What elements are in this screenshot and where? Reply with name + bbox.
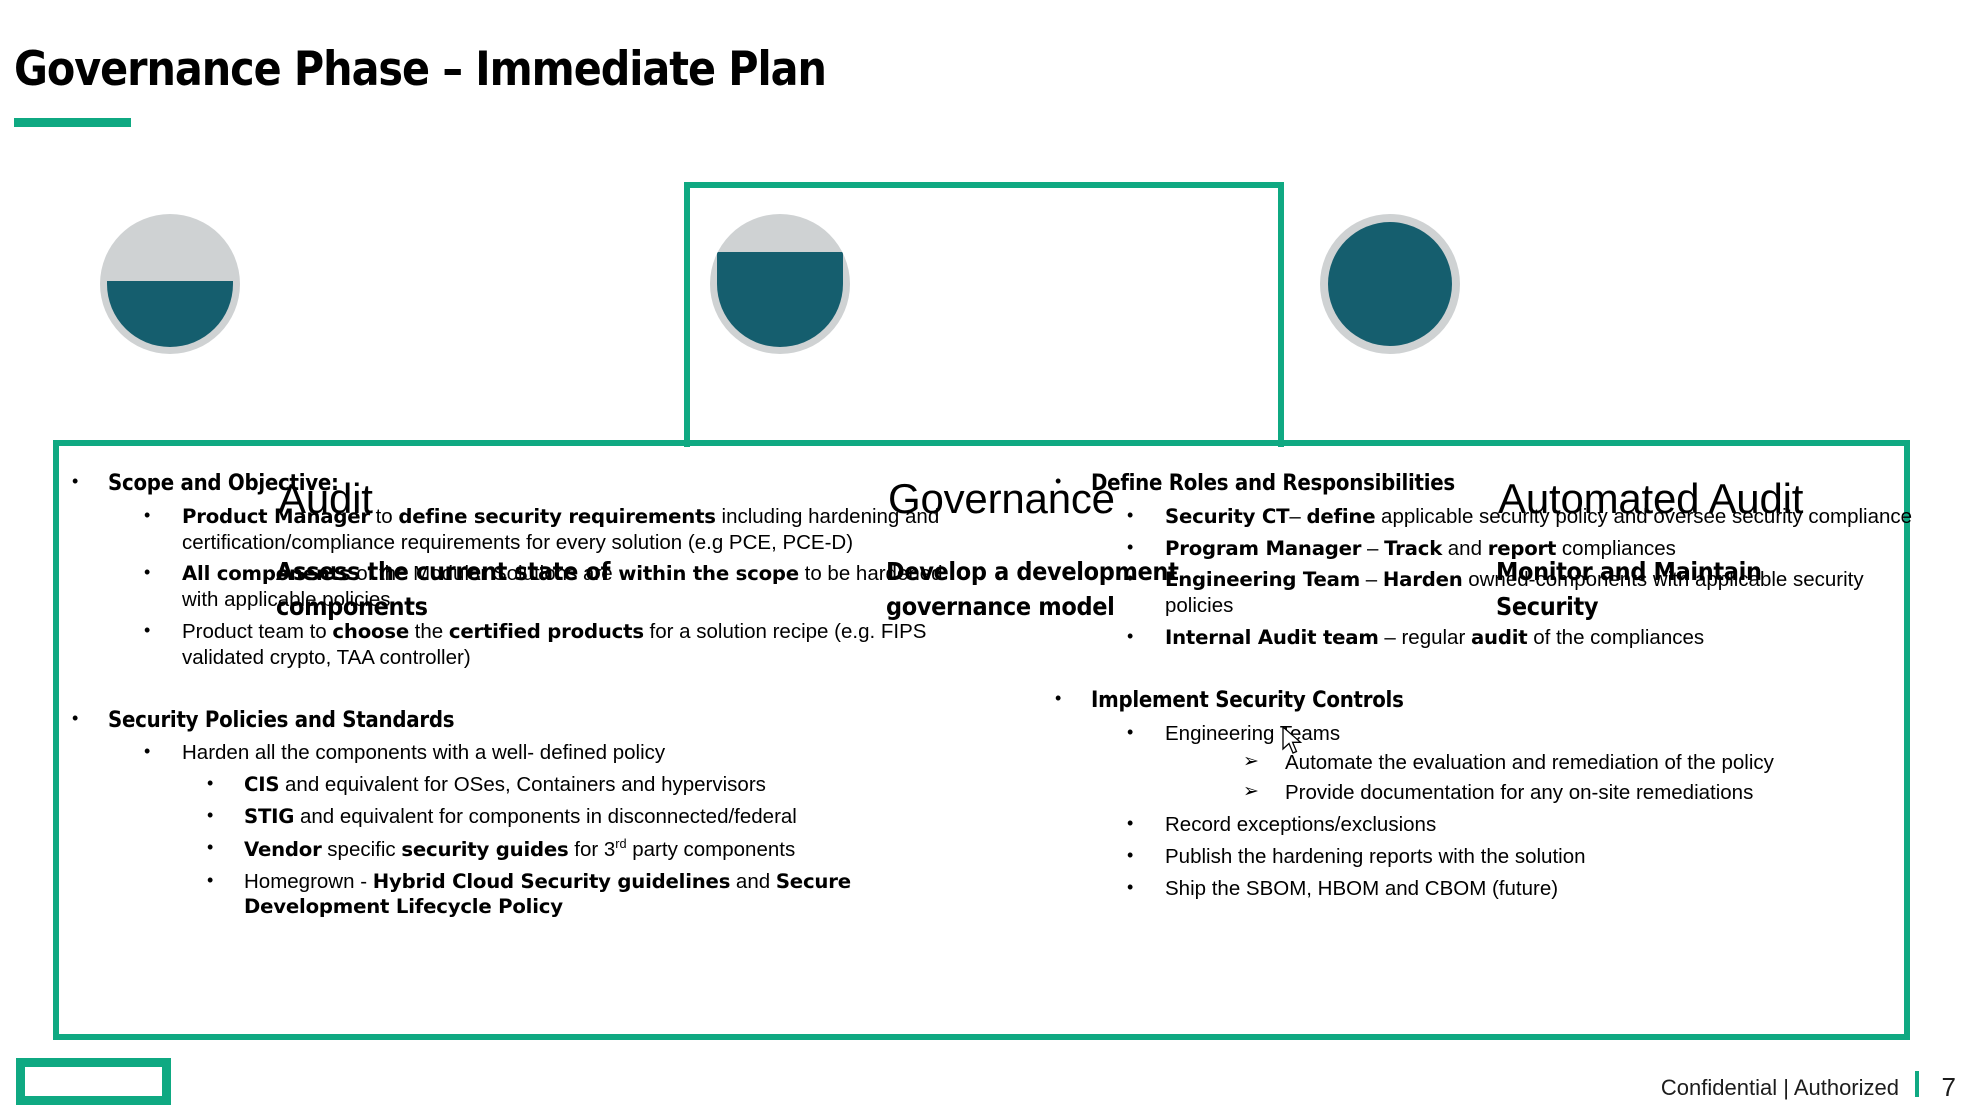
list-item: •Program Manager – Track and report comp…: [1055, 536, 1935, 562]
section-heading-text: Implement Security Controls: [1091, 687, 1851, 715]
section-heading: •Security Policies and Standards: [72, 707, 952, 735]
bullet-glyph: •: [1127, 844, 1161, 867]
page-number: 7: [1942, 1072, 1956, 1103]
section-heading-text: Scope and Objective:: [108, 470, 868, 498]
section-heading-text: Define Roles and Responsibilities: [1091, 470, 1851, 498]
section-heading: •Implement Security Controls: [1055, 687, 1935, 715]
list-item-text: Internal Audit team – regular audit of t…: [1165, 625, 1935, 651]
list-item-text: STIG and equivalent for components in di…: [244, 804, 952, 830]
bullet-glyph: •: [1127, 567, 1161, 590]
list-item-text: Vendor specific security guides for 3rd …: [244, 836, 952, 863]
bullet-glyph: •: [1127, 536, 1161, 559]
page-title: Governance Phase – Immediate Plan: [14, 42, 826, 97]
list-item: •STIG and equivalent for components in d…: [72, 804, 952, 830]
list-item-text: Security CT– define applicable security …: [1165, 504, 1935, 530]
bullet-glyph: •: [1127, 504, 1161, 527]
section-heading: •Scope and Objective:: [72, 470, 952, 498]
list-item-text: Homegrown - Hybrid Cloud Security guidel…: [244, 869, 952, 921]
list-item-text: Product team to choose the certified pro…: [182, 619, 952, 671]
list-item-text: Ship the SBOM, HBOM and CBOM (future): [1165, 876, 1935, 902]
list-item: •All components of the Modular Solutions…: [72, 561, 952, 613]
list-item: •Homegrown - Hybrid Cloud Security guide…: [72, 869, 952, 921]
list-item: •Record exceptions/exclusions: [1055, 812, 1935, 838]
list-item: ➢Automate the evaluation and remediation…: [1055, 750, 1935, 776]
bullet-glyph: •: [1055, 687, 1089, 710]
bullet-glyph: •: [144, 561, 178, 584]
bullet-glyph: •: [72, 707, 106, 730]
right-content-column: •Define Roles and Responsibilities•Secur…: [1055, 470, 1935, 902]
list-item: •Engineering Team – Harden owned-compone…: [1055, 567, 1935, 619]
section-heading-text: Security Policies and Standards: [108, 707, 868, 735]
list-item: •Product team to choose the certified pr…: [72, 619, 952, 671]
bullet-glyph: •: [207, 836, 241, 859]
list-item: ➢Provide documentation for any on-site r…: [1055, 780, 1935, 806]
list-item-text: Record exceptions/exclusions: [1165, 812, 1935, 838]
bullet-glyph: •: [1127, 812, 1161, 835]
two-thirds-filled-circle-icon: [710, 214, 850, 354]
list-item-text: Program Manager – Track and report compl…: [1165, 536, 1935, 562]
list-item-text: CIS and equivalent for OSes, Containers …: [244, 772, 952, 798]
hpe-logo: [16, 1058, 171, 1105]
list-item: •CIS and equivalent for OSes, Containers…: [72, 772, 952, 798]
bullet-glyph: •: [1127, 876, 1161, 899]
list-item: •Product Manager to define security requ…: [72, 504, 952, 556]
list-item-text: Engineering Team – Harden owned-componen…: [1165, 567, 1935, 619]
confidentiality-notice: Confidential | Authorized: [1661, 1075, 1899, 1101]
bullet-glyph: ➢: [1243, 750, 1277, 774]
full-filled-circle-icon: [1320, 214, 1460, 354]
bullet-glyph: •: [207, 869, 241, 892]
list-item-text: Provide documentation for any on-site re…: [1285, 780, 1935, 806]
list-item: •Security CT– define applicable security…: [1055, 504, 1935, 530]
bullet-glyph: •: [72, 470, 106, 493]
list-item-text: Automate the evaluation and remediation …: [1285, 750, 1935, 776]
section-heading: •Define Roles and Responsibilities: [1055, 470, 1935, 498]
left-content-column: •Scope and Objective:•Product Manager to…: [72, 470, 952, 920]
bullet-glyph: •: [144, 619, 178, 642]
list-item-text: Product Manager to define security requi…: [182, 504, 952, 556]
bullet-glyph: •: [1127, 721, 1161, 744]
section-spacer: [1055, 651, 1935, 687]
list-item: •Internal Audit team – regular audit of …: [1055, 625, 1935, 651]
bullet-glyph: ➢: [1243, 780, 1277, 804]
list-item-text: Harden all the components with a well- d…: [182, 740, 952, 766]
list-item: •Harden all the components with a well- …: [72, 740, 952, 766]
list-item: •Publish the hardening reports with the …: [1055, 844, 1935, 870]
bullet-glyph: •: [144, 504, 178, 527]
list-item: •Ship the SBOM, HBOM and CBOM (future): [1055, 876, 1935, 902]
list-item-text: Engineering Teams: [1165, 721, 1935, 747]
footer-separator: [1915, 1071, 1919, 1097]
list-item-text: Publish the hardening reports with the s…: [1165, 844, 1935, 870]
list-item-text: All components of the Modular Solutions …: [182, 561, 952, 613]
section-spacer: [72, 671, 952, 707]
slide-canvas: { "slide": { "title": "Governance Phase …: [0, 0, 1976, 1107]
bullet-glyph: •: [1127, 625, 1161, 648]
half-filled-circle-icon: [100, 214, 240, 354]
bullet-glyph: •: [1055, 470, 1089, 493]
title-underline-rule: [14, 118, 131, 127]
bullet-glyph: •: [144, 740, 178, 763]
bullet-glyph: •: [207, 772, 241, 795]
bullet-glyph: •: [207, 804, 241, 827]
list-item: •Vendor specific security guides for 3rd…: [72, 836, 952, 863]
list-item: •Engineering Teams: [1055, 721, 1935, 747]
